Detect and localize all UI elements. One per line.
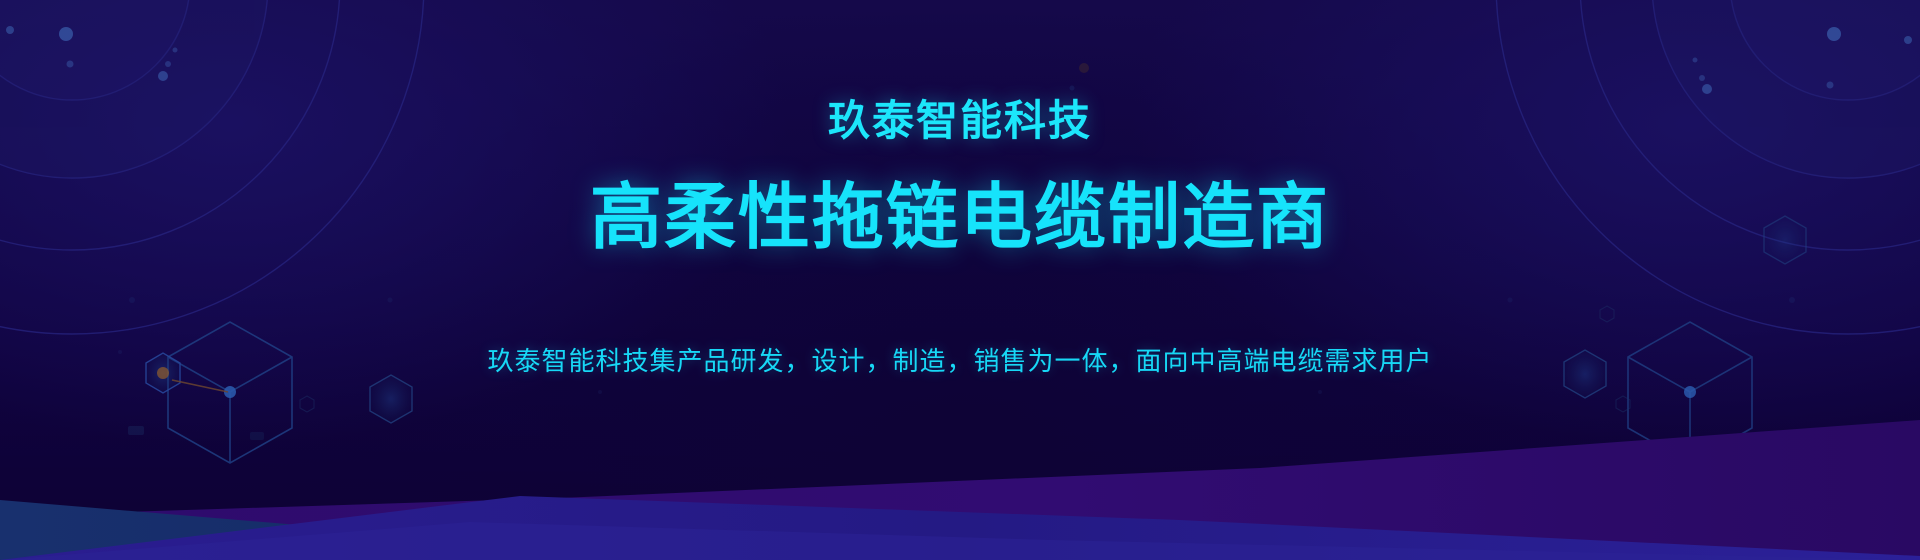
background-decorations (0, 0, 1920, 560)
speck-group (118, 63, 1795, 440)
hexagon-outline-left (370, 375, 412, 423)
arc-fill-top-left (0, 0, 268, 178)
hexagon-speck-group (300, 306, 1632, 480)
hero-banner: 玖泰智能科技 高柔性拖链电缆制造商 玖泰智能科技集产品研发，设计，制造，销售为一… (0, 0, 1920, 560)
bottom-wave-group (0, 420, 1920, 560)
hexagon-outline-right (1564, 216, 1806, 398)
hexagon-node-left (146, 353, 180, 393)
arc-fill-top-right (1652, 0, 1920, 178)
cube-node-right (1684, 386, 1696, 398)
